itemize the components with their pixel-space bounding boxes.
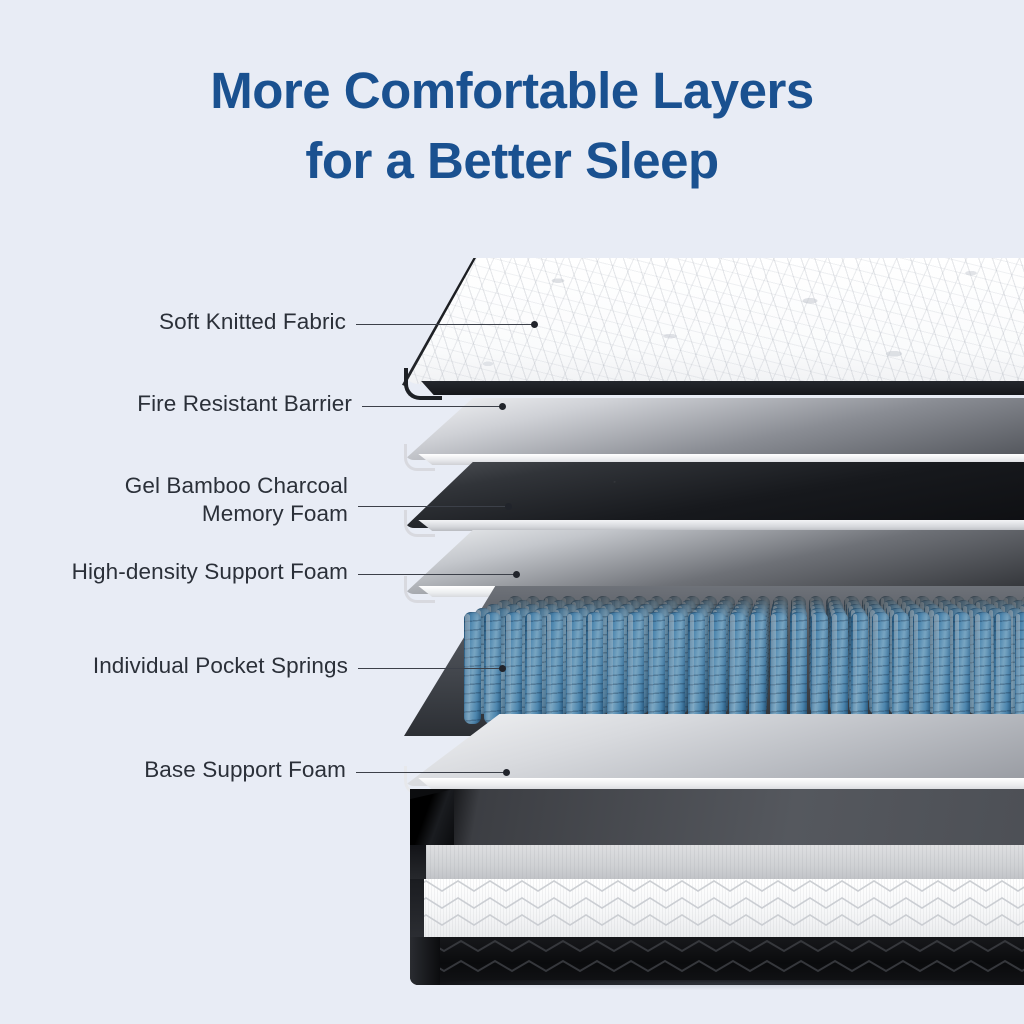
pocket-spring	[566, 612, 583, 724]
pocket-spring	[851, 612, 868, 724]
pocket-spring	[933, 612, 950, 724]
leader-line-gel-bamboo-charcoal-memory-foam	[358, 506, 510, 507]
body-black-shadow	[410, 937, 440, 985]
fabric-corner-round	[404, 368, 442, 400]
pocket-spring	[872, 612, 889, 724]
leader-dot-fire-resistant-barrier	[499, 403, 506, 410]
leader-line-high-density-support-foam	[358, 574, 518, 575]
pocket-spring	[994, 612, 1011, 724]
pocket-spring	[627, 612, 644, 724]
pocket-spring	[1015, 612, 1024, 724]
leader-line-soft-knitted-fabric	[356, 324, 536, 325]
layer-individual-pocket-springs	[404, 586, 1024, 736]
body-band-black-chevron	[410, 937, 1024, 985]
base-foam-top-face	[404, 714, 1024, 786]
pocket-spring	[790, 612, 807, 724]
leader-dot-gel-bamboo-charcoal-memory-foam	[505, 503, 512, 510]
leader-dot-base-support-foam	[503, 769, 510, 776]
pocket-spring	[811, 612, 828, 724]
label-high-density-support-foam: High-density Support Foam	[72, 558, 348, 586]
fabric-top-face	[404, 258, 1024, 384]
pocket-spring	[688, 612, 705, 724]
leader-dot-high-density-support-foam	[513, 571, 520, 578]
label-base-support-foam: Base Support Foam	[144, 756, 346, 784]
pocket-spring	[709, 612, 726, 724]
pocket-spring	[831, 612, 848, 724]
label-individual-pocket-springs: Individual Pocket Springs	[93, 652, 348, 680]
leader-line-fire-resistant-barrier	[362, 406, 504, 407]
layer-gel-bamboo-charcoal-memory-foam	[404, 462, 1024, 528]
pocket-spring	[525, 612, 542, 724]
body-corner-notch	[410, 789, 454, 845]
leader-dot-individual-pocket-springs	[499, 665, 506, 672]
pocket-spring	[505, 612, 522, 724]
pocket-spring	[607, 612, 624, 724]
body-white-cap	[410, 879, 424, 937]
label-soft-knitted-fabric: Soft Knitted Fabric	[159, 308, 346, 336]
leader-dot-soft-knitted-fabric	[531, 321, 538, 328]
layer-high-density-support-foam	[404, 530, 1024, 594]
pocket-spring	[892, 612, 909, 724]
pocket-spring	[546, 612, 563, 724]
support-foam-top-face	[404, 530, 1024, 594]
white-chevron-pattern	[410, 879, 1024, 937]
spring-row	[464, 612, 1024, 724]
body-band-dark	[410, 789, 1024, 845]
pocket-spring	[974, 612, 991, 724]
memory-foam-top-face	[404, 462, 1024, 528]
pocket-spring	[648, 612, 665, 724]
floor-shadow	[402, 980, 1024, 998]
pocket-spring	[770, 612, 787, 724]
fabric-front-edge	[410, 381, 1024, 395]
pocket-spring	[668, 612, 685, 724]
pocket-spring	[729, 612, 746, 724]
body-light-cap	[410, 845, 426, 879]
body-band-light	[410, 845, 1024, 879]
black-chevron-pattern	[410, 937, 1024, 985]
leader-line-individual-pocket-springs	[358, 668, 504, 669]
label-gel-bamboo-charcoal-memory-foam: Gel Bamboo Charcoal Memory Foam	[125, 472, 348, 528]
body-band-white-chevron	[410, 879, 1024, 937]
infographic-root: More Comfortable Layers for a Better Sle…	[0, 0, 1024, 1024]
pocket-spring	[953, 612, 970, 724]
leader-line-base-support-foam	[356, 772, 508, 773]
pocket-spring	[586, 612, 603, 724]
pocket-spring	[913, 612, 930, 724]
pocket-spring	[749, 612, 766, 724]
label-fire-resistant-barrier: Fire Resistant Barrier	[137, 390, 352, 418]
